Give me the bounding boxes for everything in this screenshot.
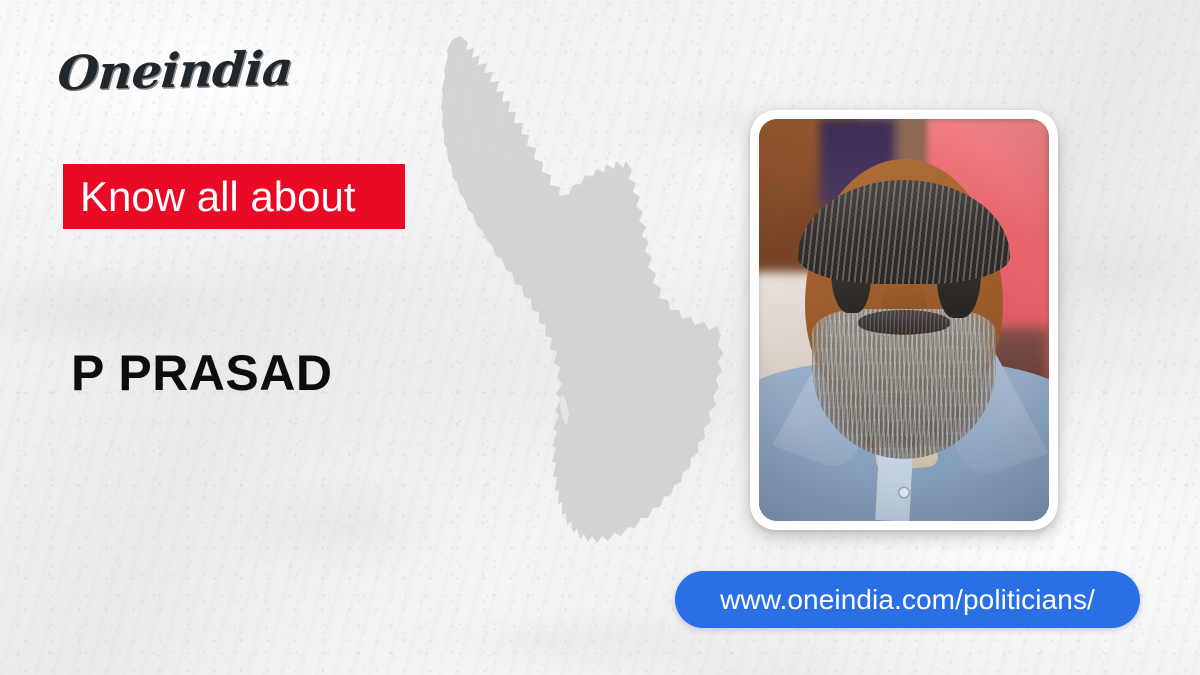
promo-card-canvas: Oneindia Know all about P PRASAD: [0, 0, 1200, 675]
banner-label: Know all about: [80, 176, 356, 218]
website-url-label: www.oneindia.com/politicians/: [720, 584, 1095, 616]
person-photo-card: [750, 110, 1058, 530]
person-photo: [759, 119, 1049, 521]
photo-mustache: [858, 310, 950, 334]
kerala-map-silhouette: [430, 22, 730, 582]
know-all-about-banner: Know all about: [63, 164, 405, 229]
kerala-map-path: [441, 36, 723, 543]
photo-shirt-button: [900, 488, 909, 497]
photo-head: [805, 159, 1003, 421]
website-url-pill[interactable]: www.oneindia.com/politicians/: [675, 571, 1140, 628]
oneindia-logo: Oneindia: [55, 42, 294, 102]
person-name: P PRASAD: [71, 344, 332, 402]
